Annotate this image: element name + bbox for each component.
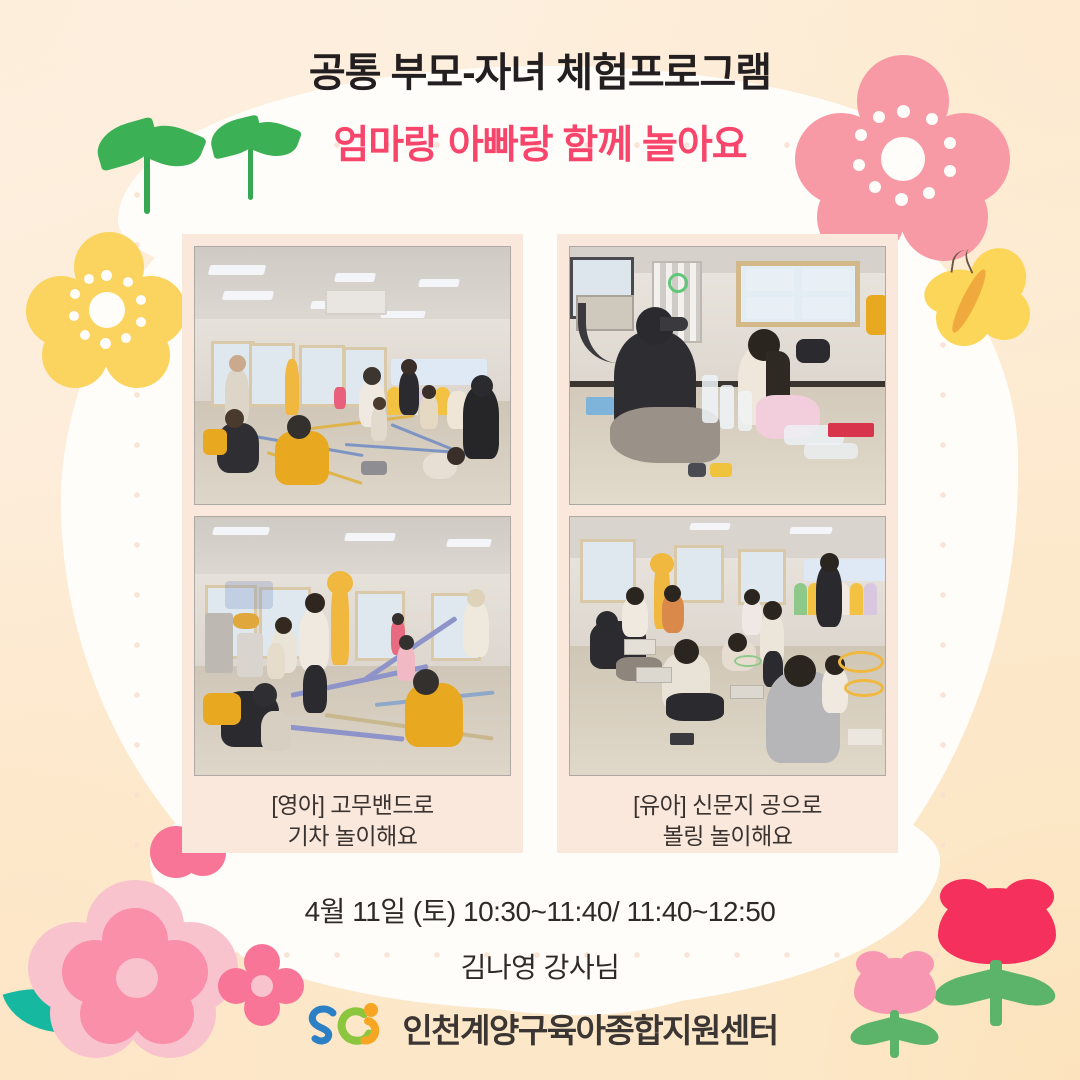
poster-header: 공통 부모-자녀 체험프로그램 엄마랑 아빠랑 함께 놀아요 [0, 50, 1080, 170]
panel-caption-toddler: [유아] 신문지 공으로 볼링 놀이해요 [569, 790, 886, 853]
panel-caption-infant: [영아] 고무밴드로 기차 놀이해요 [194, 790, 511, 853]
yellow-flower-left-icon [26, 232, 186, 392]
page-title: 공통 부모-자녀 체험프로그램 [0, 50, 1080, 96]
organization-name: 인천계양구육아종합지원센터 [402, 1004, 777, 1052]
photo-panel-toddler: [유아] 신문지 공으로 볼링 놀이해요 [557, 234, 898, 853]
schedule-instructor: 김나영 강사님 [0, 946, 1080, 986]
photo-panel-group: [영아] 고무밴드로 기차 놀이해요 [182, 234, 898, 853]
photo-infant-rubberband-train [194, 516, 511, 775]
photo-toddler-newspaper-bowling [569, 516, 886, 775]
photo-panel-infant: [영아] 고무밴드로 기차 놀이해요 [182, 234, 523, 853]
caption-line-1: [유아] 신문지 공으로 [569, 790, 886, 822]
caption-line-1: [영아] 고무밴드로 [194, 790, 511, 822]
photo-infant-rubberband-group [194, 246, 511, 505]
poster-canvas: 공통 부모-자녀 체험프로그램 엄마랑 아빠랑 함께 놀아요 [0, 0, 1080, 1080]
caption-line-2: 볼링 놀이해요 [569, 821, 886, 853]
organization-logo-icon [302, 1000, 388, 1056]
photo-toddler-bottle-play [569, 246, 886, 505]
footer: 인천계양구육아종합지원센터 [0, 1000, 1080, 1056]
schedule-datetime: 4월 11일 (토) 10:30~11:40/ 11:40~12:50 [0, 890, 1080, 930]
schedule-block: 4월 11일 (토) 10:30~11:40/ 11:40~12:50 김나영 … [0, 890, 1080, 986]
caption-line-2: 기차 놀이해요 [194, 821, 511, 853]
page-subtitle: 엄마랑 아빠랑 함께 놀아요 [0, 114, 1080, 170]
yellow-butterfly-icon [918, 248, 1048, 358]
